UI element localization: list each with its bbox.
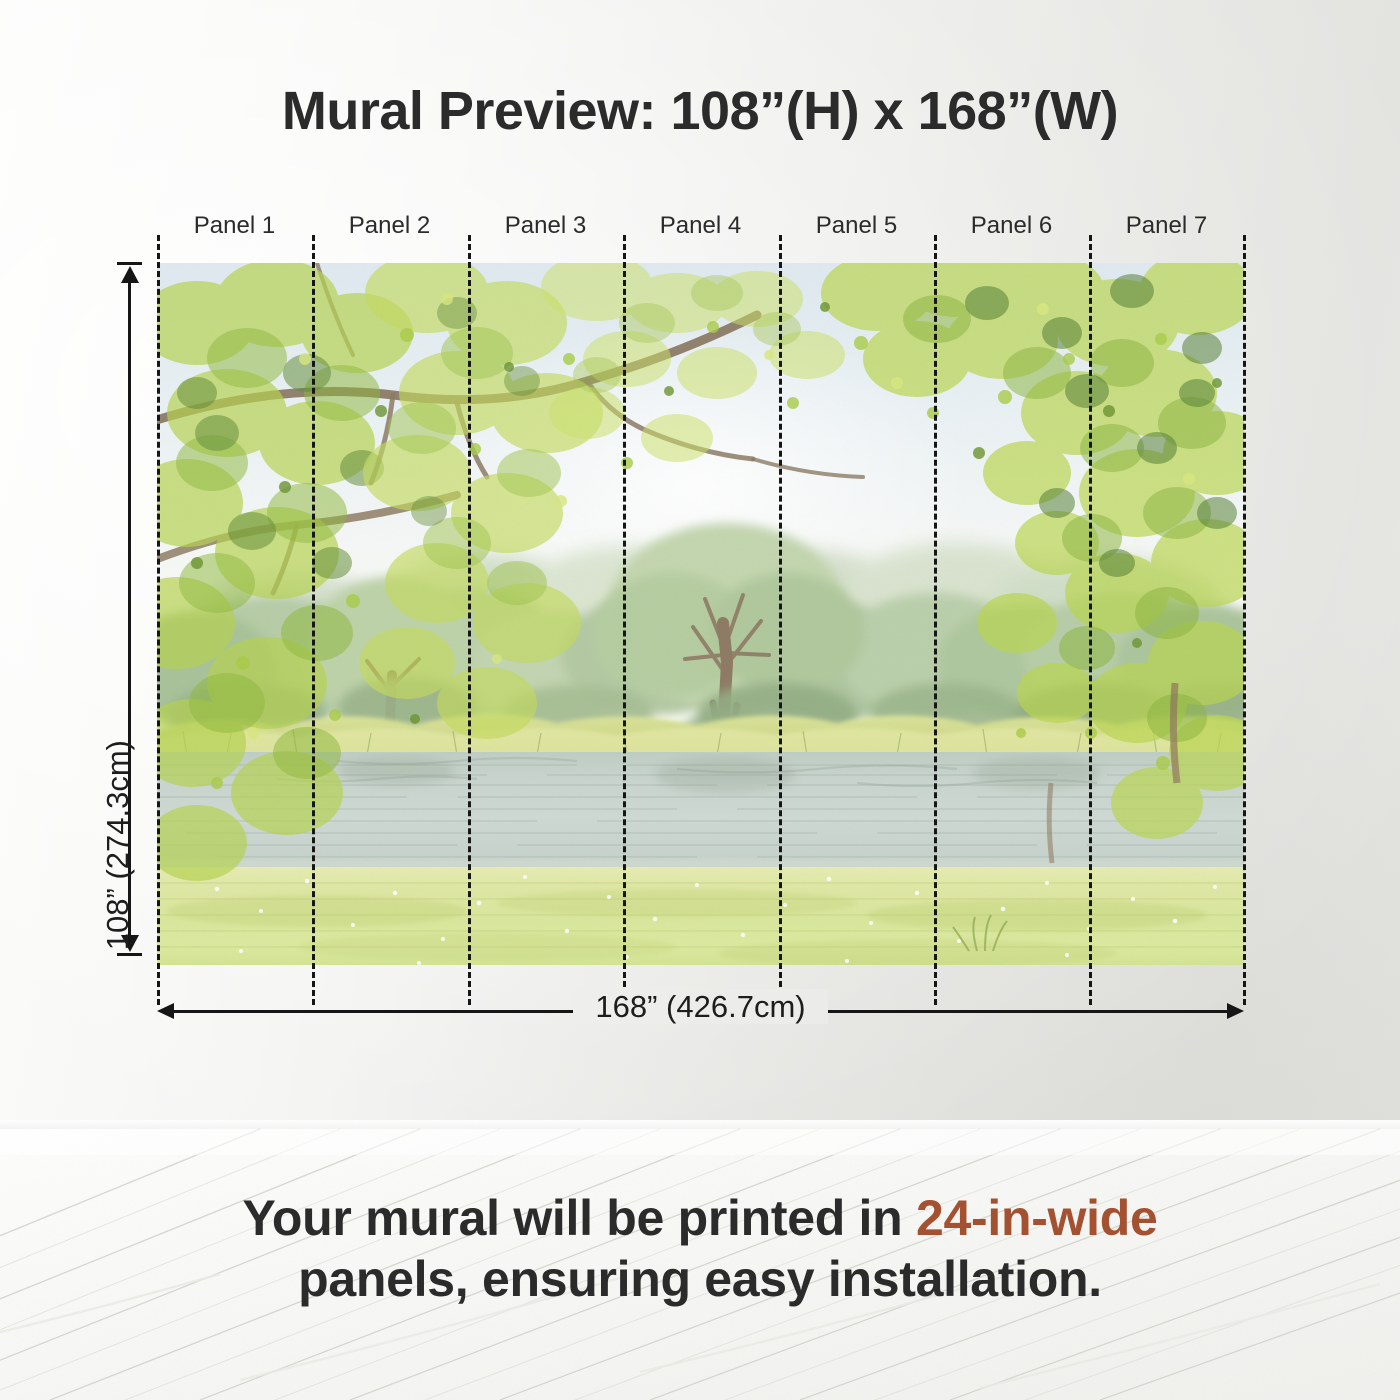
panel-divider-left-edge — [157, 235, 160, 1005]
footer-caption: Your mural will be printed in 24-in-wide… — [0, 1188, 1400, 1310]
panel-label-7: Panel 7 — [1089, 212, 1244, 240]
panel-divider-1 — [312, 235, 315, 1005]
footer-caption-highlight: 24-in-wide — [916, 1190, 1157, 1246]
footer-caption-line2: panels, ensuring easy installation. — [0, 1249, 1400, 1310]
panel-divider-4 — [779, 235, 782, 1005]
width-dimension-text: 168” (426.7cm) — [573, 989, 827, 1024]
panel-divider-3 — [623, 235, 626, 1005]
panel-label-2: Panel 2 — [312, 212, 467, 240]
mural-preview-screenshot: Mural Preview: 108”(H) x 168”(W) — [0, 0, 1400, 1400]
panel-label-3: Panel 3 — [468, 212, 623, 240]
panel-label-6: Panel 6 — [934, 212, 1089, 240]
panel-divider-right-edge — [1243, 235, 1246, 1005]
height-tick-bottom — [117, 953, 142, 956]
panel-label-4: Panel 4 — [623, 212, 778, 240]
height-dimension-label: 108” (274.3cm) — [100, 740, 136, 950]
width-dimension-label: 168” (426.7cm) — [157, 989, 1244, 1025]
footer-caption-line1-prefix: Your mural will be printed in — [243, 1190, 916, 1246]
footer-caption-line1: Your mural will be printed in 24-in-wide — [0, 1188, 1400, 1249]
panel-label-1: Panel 1 — [157, 212, 312, 240]
mural-artwork — [157, 263, 1244, 965]
width-dimension-line: 168” (426.7cm) — [157, 1010, 1244, 1013]
page-title: Mural Preview: 108”(H) x 168”(W) — [0, 80, 1400, 142]
panel-divider-2 — [468, 235, 471, 1005]
height-tick-top — [117, 262, 142, 265]
panel-divider-5 — [934, 235, 937, 1005]
panel-label-5: Panel 5 — [779, 212, 934, 240]
panel-divider-6 — [1089, 235, 1092, 1005]
